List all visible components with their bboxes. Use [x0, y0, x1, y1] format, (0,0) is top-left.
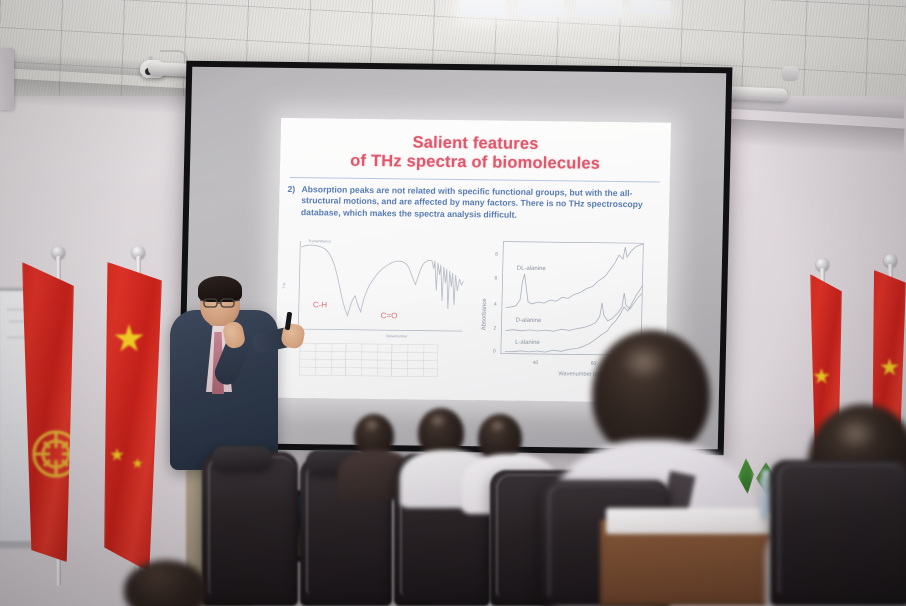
series-label-l-alanine: L-alanine [515, 340, 540, 346]
bullet-text: Absorption peaks are not related with sp… [301, 184, 660, 223]
gold-star-icon [880, 358, 899, 377]
svg-text:Transmittance: Transmittance [308, 239, 331, 243]
hair-highlight [620, 343, 667, 381]
hair-highlight [834, 416, 878, 451]
annotation-co: C=O [381, 311, 398, 320]
hair-highlight [429, 413, 447, 428]
svg-text:60: 60 [591, 361, 597, 367]
eyeglasses-icon [200, 296, 242, 310]
y-axis-label: Absorbance [481, 298, 488, 331]
svg-text:2: 2 [493, 325, 496, 331]
small-star-icon [110, 448, 124, 462]
svg-text:4: 4 [494, 301, 497, 307]
gold-star-icon [813, 368, 830, 385]
chair-rim [208, 456, 294, 594]
slide-bullet: 2) Absorption peaks are not related with… [287, 184, 660, 223]
svg-text:8: 8 [495, 251, 498, 257]
ir-spectrum-svg: Transmittance T % C-H C=O Wavenumber [275, 233, 474, 395]
hair-highlight [364, 418, 380, 431]
roller-end-cap [782, 66, 799, 82]
hair-highlight [489, 419, 507, 433]
slide-title: Salient features of THz spectra of biomo… [288, 132, 663, 175]
svg-text:T %: T % [282, 282, 286, 289]
ceiling-light [518, 0, 565, 17]
ceiling-light [459, 0, 506, 17]
wall-speaker [0, 48, 14, 110]
slide-title-line2: of THz spectra of biomolecules [288, 151, 662, 175]
bullet-number: 2) [287, 184, 302, 218]
annotation-ch: C-H [313, 300, 328, 309]
chair-headrest [212, 446, 272, 470]
foreground-head [592, 330, 710, 458]
small-star-icon [132, 458, 143, 469]
ceiling-light [630, 0, 671, 15]
svg-text:0: 0 [493, 348, 496, 354]
chair-rim [778, 464, 903, 594]
series-label-dl-alanine: DL-alanine [517, 266, 547, 272]
svg-text:40: 40 [533, 360, 539, 366]
chair [202, 452, 298, 606]
large-star-icon [114, 324, 144, 354]
svg-text:Wavenumber: Wavenumber [386, 334, 408, 338]
svg-text:6: 6 [494, 275, 497, 281]
chair [770, 460, 906, 606]
title-divider [290, 177, 660, 183]
ceiling-light [576, 0, 623, 17]
chart-ir-transmission: Transmittance T % C-H C=O Wavenumber [275, 233, 474, 395]
series-label-d-alanine: D-alanine [516, 318, 542, 324]
conference-room-photo: Salient features of THz spectra of biomo… [0, 0, 906, 606]
